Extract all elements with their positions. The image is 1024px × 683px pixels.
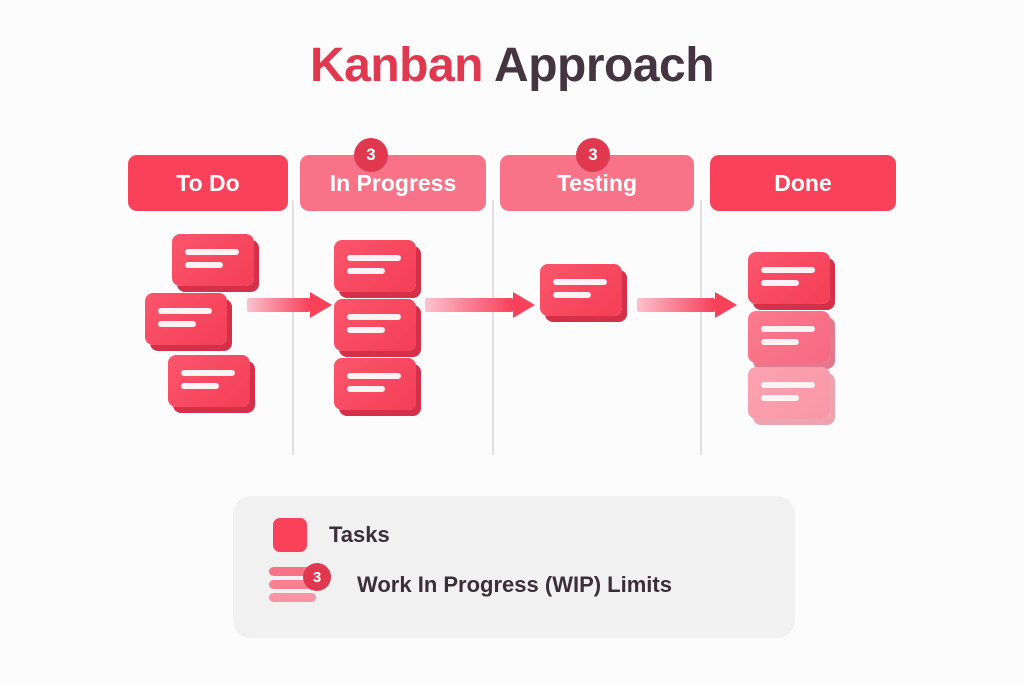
wip-badge-value: 3	[313, 569, 321, 586]
card-line-primary	[347, 373, 401, 379]
wip-badge-in-progress: 3	[354, 138, 388, 172]
arrow-shaft	[247, 298, 310, 312]
task-card[interactable]	[145, 293, 227, 345]
column-divider-1	[292, 200, 294, 455]
flow-arrow	[425, 292, 535, 318]
arrow-head-icon	[715, 292, 737, 318]
legend-item-label: Work In Progress (WIP) Limits	[357, 572, 672, 598]
task-card[interactable]	[748, 367, 830, 419]
task-card[interactable]	[168, 355, 250, 407]
legend-item-label: Tasks	[329, 522, 390, 548]
column-divider-3	[700, 200, 702, 455]
column-header-todo[interactable]: To Do	[128, 155, 288, 211]
task-card[interactable]	[334, 299, 416, 351]
wip-stack-icon: 3	[269, 566, 325, 604]
wip-badge-value: 3	[588, 145, 597, 165]
legend-panel: Tasks 3 Work In Progress (WIP) Limits	[233, 496, 795, 638]
card-line-primary	[761, 382, 815, 388]
card-line-secondary	[761, 395, 799, 401]
task-card[interactable]	[334, 240, 416, 292]
legend-item-wip-limits: 3 Work In Progress (WIP) Limits	[269, 566, 672, 604]
flow-arrow	[247, 292, 332, 318]
wip-badge-value: 3	[366, 145, 375, 165]
card-line-secondary	[181, 383, 219, 389]
flow-arrow	[637, 292, 737, 318]
task-swatch-icon	[273, 518, 307, 552]
arrow-shaft	[425, 298, 513, 312]
task-card[interactable]	[540, 264, 622, 316]
card-line-primary	[347, 314, 401, 320]
task-card[interactable]	[748, 311, 830, 363]
column-header-label: In Progress	[330, 170, 457, 197]
column-header-label: To Do	[176, 170, 239, 197]
column-header-label: Done	[774, 170, 832, 197]
card-line-secondary	[761, 339, 799, 345]
column-header-in-progress[interactable]: In Progress	[300, 155, 486, 211]
card-line-secondary	[347, 327, 385, 333]
column-header-label: Testing	[557, 170, 637, 197]
arrow-shaft	[637, 298, 715, 312]
column-divider-2	[492, 200, 494, 455]
card-line-primary	[761, 326, 815, 332]
title-highlight: Kanban	[310, 39, 483, 92]
card-line-secondary	[553, 292, 591, 298]
task-card[interactable]	[748, 252, 830, 304]
wip-bar	[269, 593, 316, 602]
legend-item-tasks: Tasks	[273, 518, 390, 552]
card-line-secondary	[347, 386, 385, 392]
card-line-secondary	[185, 262, 223, 268]
card-line-primary	[185, 249, 239, 255]
title-rest: Approach	[483, 39, 714, 92]
task-card[interactable]	[172, 234, 254, 286]
card-line-primary	[553, 279, 607, 285]
wip-badge-testing: 3	[576, 138, 610, 172]
task-card[interactable]	[334, 358, 416, 410]
card-line-secondary	[158, 321, 196, 327]
arrow-head-icon	[310, 292, 332, 318]
card-line-primary	[761, 267, 815, 273]
card-line-primary	[158, 308, 212, 314]
kanban-diagram: Kanban Approach To Do In Progress 3 Test…	[0, 0, 1024, 683]
card-line-primary	[181, 370, 235, 376]
wip-badge: 3	[303, 563, 331, 591]
column-header-done[interactable]: Done	[710, 155, 896, 211]
card-line-primary	[347, 255, 401, 261]
page-title: Kanban Approach	[0, 38, 1024, 93]
card-line-secondary	[761, 280, 799, 286]
card-line-secondary	[347, 268, 385, 274]
arrow-head-icon	[513, 292, 535, 318]
